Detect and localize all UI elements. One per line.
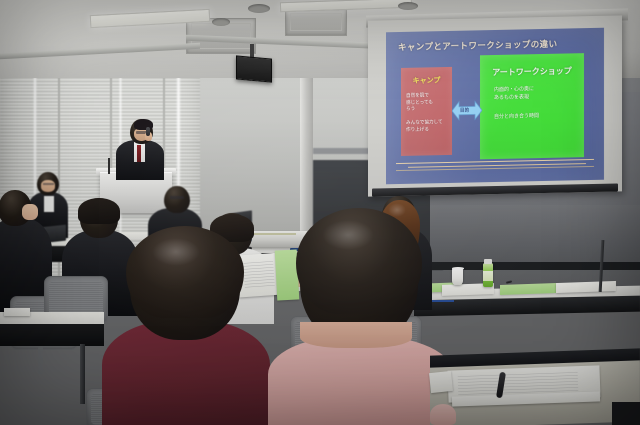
- ceiling-speaker-2: [212, 18, 230, 26]
- ceiling-rail-left: [0, 43, 200, 59]
- slide-arrow-label: 目的: [460, 107, 469, 113]
- slide-right-box-line-2: あるものを表現: [494, 93, 584, 102]
- slide-right-box-heading: アートワークショップ: [480, 65, 584, 78]
- presenter-hair: [134, 119, 153, 130]
- table-front-left-front: [0, 324, 104, 346]
- attendee-suit-center-hair: [78, 198, 120, 224]
- table-projector-top-strip: [250, 233, 296, 235]
- slide-left-box-line-3: らう: [406, 105, 447, 113]
- paper-front-right: [429, 371, 453, 393]
- attendee-far-left-shirt: [44, 196, 54, 212]
- microphone-stand: [108, 158, 110, 174]
- handheld-microphone: [146, 127, 150, 136]
- seminar-room-photo: キャンプとアートワークショップの違い キャンプ 自然を肌で 感じとっても らう …: [0, 0, 640, 425]
- tea-bottle: [483, 263, 493, 287]
- air-conditioning-vent-2: [285, 8, 347, 36]
- presenter-necktie: [137, 145, 141, 162]
- slide-title: キャンプとアートワークショップの違い: [398, 37, 594, 53]
- paper-cup: [452, 268, 463, 285]
- attendee-suit-back-glasses: [170, 196, 184, 199]
- attendee-pink-body: [268, 336, 454, 425]
- dark-object-corner: [612, 402, 640, 425]
- slide-left-box-line-4: みんなで協力して: [406, 119, 447, 127]
- slide-purpose-arrow: 目的: [452, 98, 482, 123]
- right-whiteboard-panel-lower: [430, 205, 640, 265]
- ceiling-speaker-3: [398, 2, 418, 10]
- tea-bottle-cap: [484, 259, 492, 264]
- white-handout-right-2: [556, 281, 616, 293]
- slide-left-box: キャンプ 自然を肌で 感じとっても らう みんなで協力して 作り上げる: [401, 67, 452, 156]
- slide-right-box-line-3: 自分と向き合う時間: [494, 112, 584, 121]
- attendee-pink-neck: [300, 322, 412, 348]
- chair-left-post: [38, 344, 43, 374]
- ceiling-projector: [236, 55, 272, 82]
- attendee-far-left-glasses: [43, 183, 54, 185]
- table-front-left-leg: [80, 344, 85, 404]
- attendee-far-left-face: [41, 180, 55, 192]
- attendee-hand-foreground: [430, 404, 456, 425]
- green-handout-right-2: [500, 283, 556, 295]
- slide-left-box-line-5: 作り上げる: [406, 126, 447, 134]
- slide-right-box: アートワークショップ 内面的・心の奥に あるものを表現 自分と向き合う時間: [480, 53, 584, 159]
- slide-left-box-heading: キャンプ: [401, 75, 452, 86]
- projected-slide: キャンプとアートワークショップの違い キャンプ 自然を肌で 感じとっても らう …: [386, 28, 604, 185]
- ceiling-speaker: [248, 4, 270, 13]
- attendee-suit-back-head: [164, 186, 190, 213]
- paper-front-left: [4, 308, 30, 316]
- attendee-suit-left-face: [22, 204, 38, 220]
- table-right-front: [414, 296, 640, 317]
- back-wall-column: [300, 62, 313, 242]
